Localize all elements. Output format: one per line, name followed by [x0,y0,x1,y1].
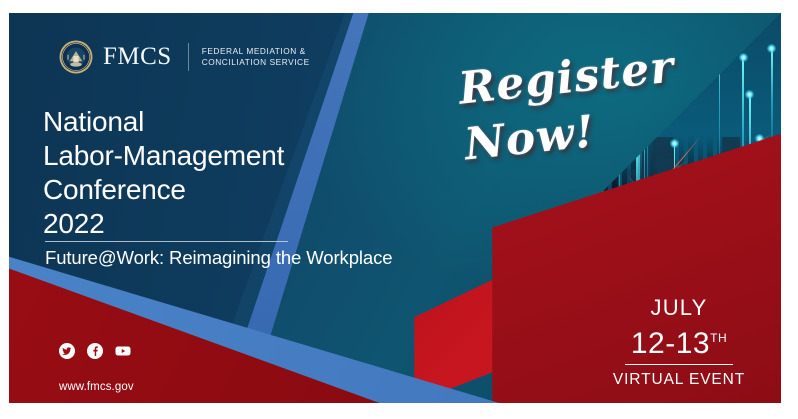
event-days-number: 12-13 [631,327,710,360]
fmcs-wordmark: FMCS [103,43,172,71]
social-links [59,343,131,359]
event-days: 12-13TH [631,321,727,361]
conference-banner: FMCS FEDERAL MEDIATION & CONCILIATION SE… [9,13,781,403]
page-title: National Labor-Management Conference 202… [43,105,284,241]
title-divider [45,241,288,242]
conference-tagline: Future@Work: Reimagining the Workplace [45,247,392,269]
youtube-icon[interactable] [115,343,131,359]
facebook-icon[interactable] [87,343,103,359]
twitter-icon[interactable] [59,343,75,359]
date-divider [625,364,733,366]
event-type: VIRTUAL EVENT [599,370,759,389]
event-days-ordinal: TH [710,331,727,345]
agency-name: FEDERAL MEDIATION & CONCILIATION SERVICE [202,46,310,68]
event-month: JULY [599,295,759,321]
fmcs-seal-icon [59,40,93,74]
event-date-block: JULY 12-13TH VIRTUAL EVENT [599,295,759,390]
website-url[interactable]: www.fmcs.gov [59,381,134,393]
fmcs-logo[interactable]: FMCS FEDERAL MEDIATION & CONCILIATION SE… [59,40,310,74]
logo-divider [188,43,189,71]
